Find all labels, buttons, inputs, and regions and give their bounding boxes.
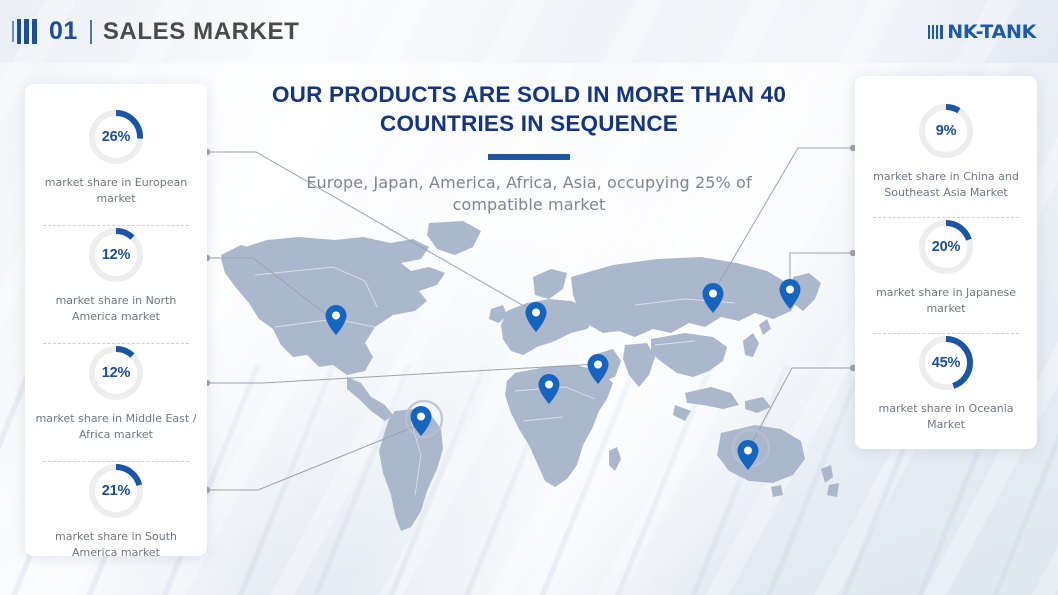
header-left-group: 01 SALES MARKET bbox=[12, 0, 299, 63]
stat-cell-right-2: 45%market share in Oceania Market bbox=[855, 334, 1037, 450]
stat-cell-left-0: 26%market share in European market bbox=[25, 108, 207, 226]
header-divider bbox=[90, 20, 92, 44]
donut-chart: 21% bbox=[87, 462, 145, 520]
stat-cell-left-2: 12%market share in Middle East / Africa … bbox=[25, 344, 207, 462]
donut-value: 45% bbox=[917, 334, 975, 392]
donut-value: 26% bbox=[87, 108, 145, 166]
title-underline bbox=[488, 154, 570, 160]
donut-value: 9% bbox=[917, 102, 975, 160]
stat-caption: market share in Middle East / Africa mar… bbox=[25, 411, 207, 442]
donut-chart: 26% bbox=[87, 108, 145, 166]
donut-value: 20% bbox=[917, 218, 975, 276]
donut-value: 12% bbox=[87, 344, 145, 402]
donut-value: 12% bbox=[87, 226, 145, 284]
stat-cell-right-0: 9%market share in China and Southeast As… bbox=[855, 102, 1037, 218]
donut-chart: 45% bbox=[917, 334, 975, 392]
section-number: 01 bbox=[49, 17, 78, 46]
stat-caption: market share in European market bbox=[25, 175, 207, 206]
stat-cell-right-1: 20%market share in Japanese market bbox=[855, 218, 1037, 334]
page-title: OUR PRODUCTS ARE SOLD IN MORE THAN 40 CO… bbox=[269, 80, 789, 139]
right-stats-panel: 9%market share in China and Southeast As… bbox=[855, 76, 1037, 449]
donut-chart: 9% bbox=[917, 102, 975, 160]
donut-chart: 12% bbox=[87, 344, 145, 402]
stat-caption: market share in China and Southeast Asia… bbox=[855, 169, 1037, 200]
stat-caption: market share in Japanese market bbox=[855, 285, 1037, 316]
logo-text: NK-TANK bbox=[947, 21, 1036, 43]
donut-chart: 12% bbox=[87, 226, 145, 284]
slide-header: 01 SALES MARKET NK-TANK bbox=[0, 0, 1058, 63]
world-map bbox=[215, 215, 855, 535]
page-subtitle: Europe, Japan, America, Africa, Asia, oc… bbox=[269, 172, 789, 217]
stat-caption: market share in Oceania Market bbox=[855, 401, 1037, 432]
stat-cell-left-3: 21%market share in South America market bbox=[25, 462, 207, 580]
donut-chart: 20% bbox=[917, 218, 975, 276]
center-heading-block: OUR PRODUCTS ARE SOLD IN MORE THAN 40 CO… bbox=[269, 80, 789, 217]
left-stats-panel: 26%market share in European market12%mar… bbox=[25, 84, 207, 556]
section-title: SALES MARKET bbox=[103, 18, 300, 46]
stat-cell-left-1: 12%market share in North America market bbox=[25, 226, 207, 344]
map-landmasses bbox=[221, 221, 839, 531]
header-bars-icon bbox=[12, 19, 37, 44]
slide-canvas: 01 SALES MARKET NK-TANK OUR PRODUCTS ARE… bbox=[0, 0, 1058, 595]
stat-caption: market share in South America market bbox=[25, 529, 207, 560]
logo-bars-icon bbox=[928, 25, 943, 39]
donut-value: 21% bbox=[87, 462, 145, 520]
stat-caption: market share in North America market bbox=[25, 293, 207, 324]
brand-logo: NK-TANK bbox=[928, 0, 1036, 63]
